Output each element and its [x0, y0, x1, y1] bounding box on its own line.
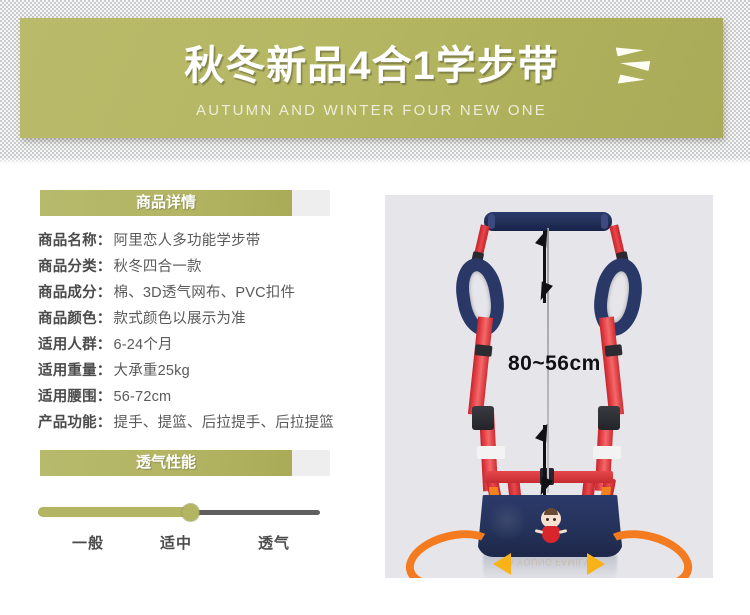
slider-scale-labels: 一般 适中 透气	[38, 532, 320, 554]
slider-label-low: 一般	[72, 532, 104, 553]
spec-label: 商品名称：	[38, 229, 112, 250]
section-header-details: 商品详情	[40, 190, 292, 216]
spec-value: 秋冬四合一款	[114, 255, 202, 276]
spec-label: 适用人群：	[38, 333, 112, 354]
spec-list: 商品名称： 阿里恋人多功能学步带 商品分类： 秋冬四合一款 商品成分： 棉、3D…	[38, 229, 380, 437]
arrow-head-right	[587, 553, 605, 575]
waist-arrow-right	[596, 521, 699, 578]
slider-fill	[38, 507, 190, 517]
spec-value: 6-24个月	[114, 333, 173, 354]
baby-mascot-icon	[537, 509, 565, 547]
velcro-patch-right	[593, 446, 621, 459]
table-row: 适用人群： 6-24个月	[38, 333, 380, 359]
measure-arrowhead-mid-up	[535, 421, 553, 442]
spec-value: 棉、3D透气网布、PVC扣件	[114, 281, 296, 302]
promo-banner: 秋冬新品4合1学步带 AUTUMN AND WINTER FOUR NEW ON…	[20, 18, 723, 138]
spec-label: 产品功能：	[38, 411, 112, 432]
breathability-slider[interactable]	[38, 504, 320, 522]
horizontal-dimension-label: 56~72cm	[473, 577, 574, 578]
table-row: 商品名称： 阿里恋人多功能学步带	[38, 229, 380, 255]
table-row: 适用腰围： 56-72cm	[38, 385, 380, 411]
spec-value: 款式颜色以展示为准	[114, 307, 246, 328]
table-row: 商品分类： 秋冬四合一款	[38, 255, 380, 281]
spec-value: 阿里恋人多功能学步带	[114, 229, 261, 250]
measure-arrowhead-mid-down	[535, 281, 553, 302]
table-row: 产品功能： 提手、提篮、后拉提手、后拉提篮	[38, 411, 380, 437]
specs-column: 商品详情 商品名称： 阿里恋人多功能学步带 商品分类： 秋冬四合一款 商品成分：…	[0, 190, 380, 554]
spec-value: 提手、提篮、后拉提手、后拉提篮	[114, 411, 335, 432]
spec-label: 适用重量：	[38, 359, 112, 380]
section-header-tail	[292, 450, 330, 476]
vertical-dimension-label: 80~56cm	[508, 352, 601, 376]
table-row: 商品成分： 棉、3D透气网布、PVC扣件	[38, 281, 380, 307]
buckle-right	[598, 406, 620, 430]
spec-label: 商品成分：	[38, 281, 112, 302]
spec-label: 商品颜色：	[38, 307, 112, 328]
arrow-head-left	[493, 553, 511, 575]
buckle-left	[472, 406, 494, 430]
product-image: A YOUNG FAMILY 80~56cm 56~72cm	[385, 195, 713, 578]
strap-adjuster-right	[604, 344, 622, 357]
section-header-breathability: 透气性能	[40, 450, 292, 476]
section-header-breathability-label: 透气性能	[40, 454, 292, 472]
sparkle-icon	[598, 30, 658, 90]
spec-value: 大承重25kg	[114, 359, 190, 380]
spec-value: 56-72cm	[114, 389, 172, 405]
slider-label-high: 透气	[258, 532, 290, 553]
waist-arrow-left	[400, 521, 503, 578]
velcro-patch-left	[477, 446, 505, 459]
spec-label: 适用腰围：	[38, 385, 112, 406]
table-row: 商品颜色： 款式颜色以展示为准	[38, 307, 380, 333]
banner-subtitle: AUTUMN AND WINTER FOUR NEW ONE	[20, 103, 723, 118]
slider-knob[interactable]	[182, 504, 199, 521]
table-row: 适用重量： 大承重25kg	[38, 359, 380, 385]
section-header-details-label: 商品详情	[40, 194, 292, 212]
section-header-tail	[292, 190, 330, 216]
strap-adjuster-left	[474, 344, 492, 357]
shoulder-loop-right	[589, 255, 647, 339]
breathability-block: 透气性能 一般 适中 透气	[0, 450, 380, 554]
spec-label: 商品分类：	[38, 255, 112, 276]
slider-label-mid: 适中	[160, 532, 192, 553]
product-detail-page: 秋冬新品4合1学步带 AUTUMN AND WINTER FOUR NEW ON…	[0, 0, 750, 615]
